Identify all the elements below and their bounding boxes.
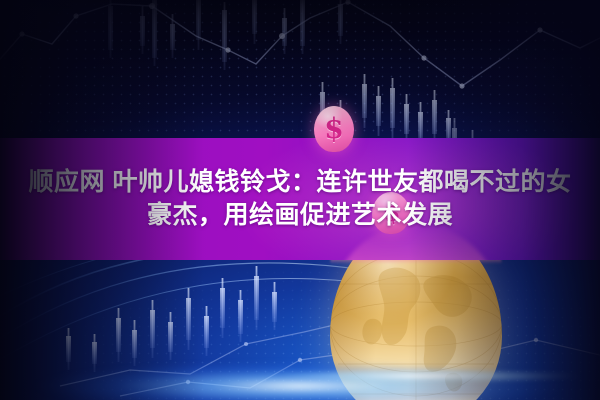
promo-banner-image: $ $ $ 顺应网 叶帅儿媳钱铃戈：连许世友都喝不过的女 豪杰，用绘画促进艺术发… xyxy=(0,0,600,400)
edge-vignette xyxy=(0,0,600,400)
